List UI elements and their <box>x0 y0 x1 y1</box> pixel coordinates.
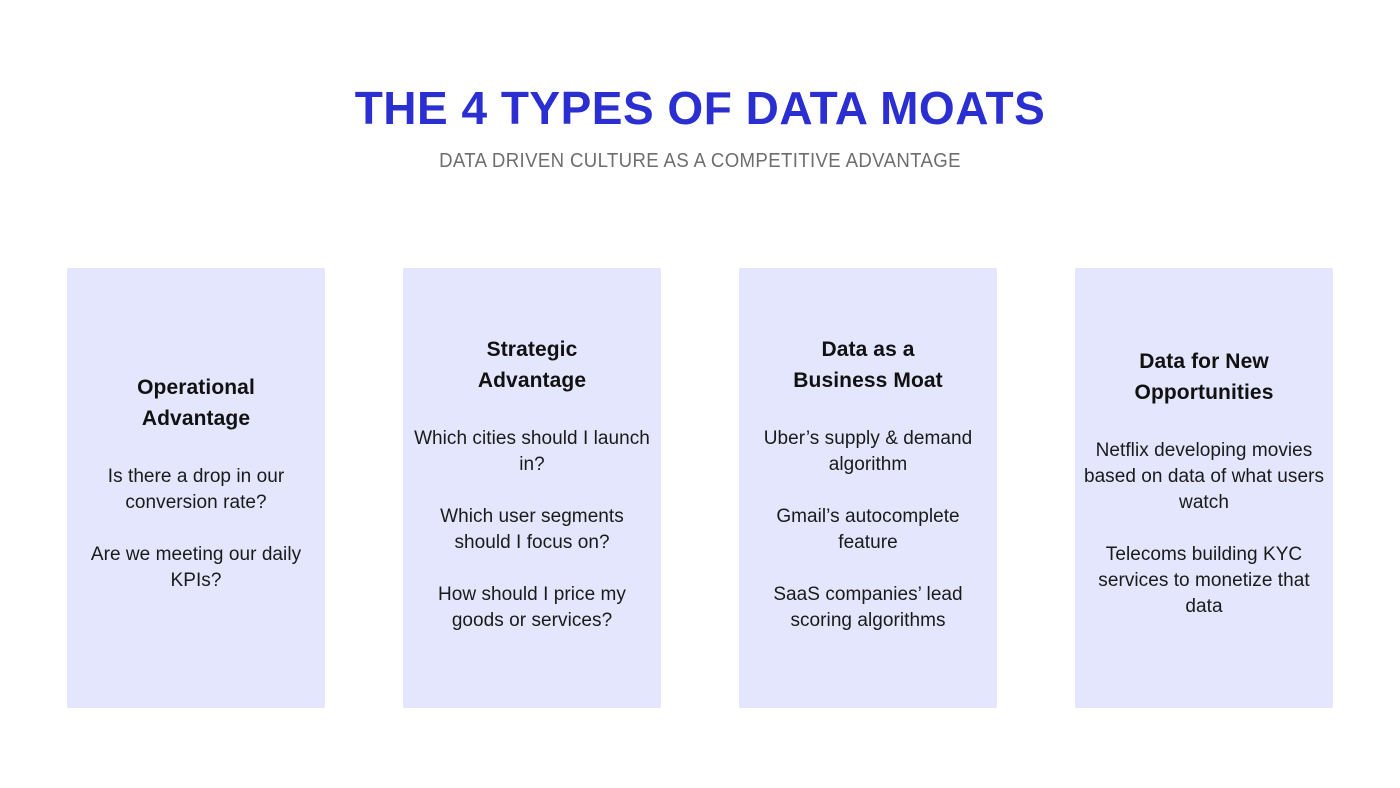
card-item-list: Is there a drop in our conversion rate? … <box>75 464 317 594</box>
card-heading: Strategic Advantage <box>478 334 586 396</box>
list-item: How should I price my goods or services? <box>411 582 653 634</box>
card-data-as-business-moat: Data as a Business Moat Uber’s supply & … <box>739 268 997 708</box>
card-heading-line: Data as a <box>821 338 914 361</box>
card-heading-line: Advantage <box>478 369 586 392</box>
card-operational-advantage: Operational Advantage Is there a drop in… <box>67 268 325 708</box>
list-item: Netflix developing movies based on data … <box>1083 438 1325 516</box>
card-item-list: Which cities should I launch in? Which u… <box>411 426 653 634</box>
card-item-list: Uber’s supply & demand algorithm Gmail’s… <box>747 426 989 634</box>
card-strategic-advantage: Strategic Advantage Which cities should … <box>403 268 661 708</box>
list-item: Which user segments should I focus on? <box>411 504 653 556</box>
card-heading-line: Advantage <box>142 407 250 430</box>
card-item-list: Netflix developing movies based on data … <box>1083 438 1325 620</box>
page-title: THE 4 TYPES OF DATA MOATS <box>0 0 1400 136</box>
card-heading-line: Strategic <box>487 338 578 361</box>
list-item: Is there a drop in our conversion rate? <box>75 464 317 516</box>
slide-canvas: THE 4 TYPES OF DATA MOATS DATA DRIVEN CU… <box>0 0 1400 788</box>
card-heading-line: Operational <box>137 376 255 399</box>
card-heading-line: Data for New <box>1139 350 1269 373</box>
card-heading: Operational Advantage <box>137 372 255 434</box>
card-data-for-new-opportunities: Data for New Opportunities Netflix devel… <box>1075 268 1333 708</box>
card-heading: Data as a Business Moat <box>793 334 943 396</box>
list-item: Uber’s supply & demand algorithm <box>747 426 989 478</box>
list-item: Which cities should I launch in? <box>411 426 653 478</box>
list-item: SaaS companies’ lead scoring algorithms <box>747 582 989 634</box>
card-grid: Operational Advantage Is there a drop in… <box>67 268 1333 708</box>
list-item: Are we meeting our daily KPIs? <box>75 542 317 594</box>
card-heading-line: Business Moat <box>793 369 943 392</box>
list-item: Telecoms building KYC services to moneti… <box>1083 542 1325 620</box>
page-subtitle: DATA DRIVEN CULTURE AS A COMPETITIVE ADV… <box>49 136 1351 174</box>
card-heading-line: Opportunities <box>1135 381 1274 404</box>
slide-header: THE 4 TYPES OF DATA MOATS DATA DRIVEN CU… <box>0 0 1400 174</box>
list-item: Gmail’s autocomplete feature <box>747 504 989 556</box>
card-heading: Data for New Opportunities <box>1135 346 1274 408</box>
